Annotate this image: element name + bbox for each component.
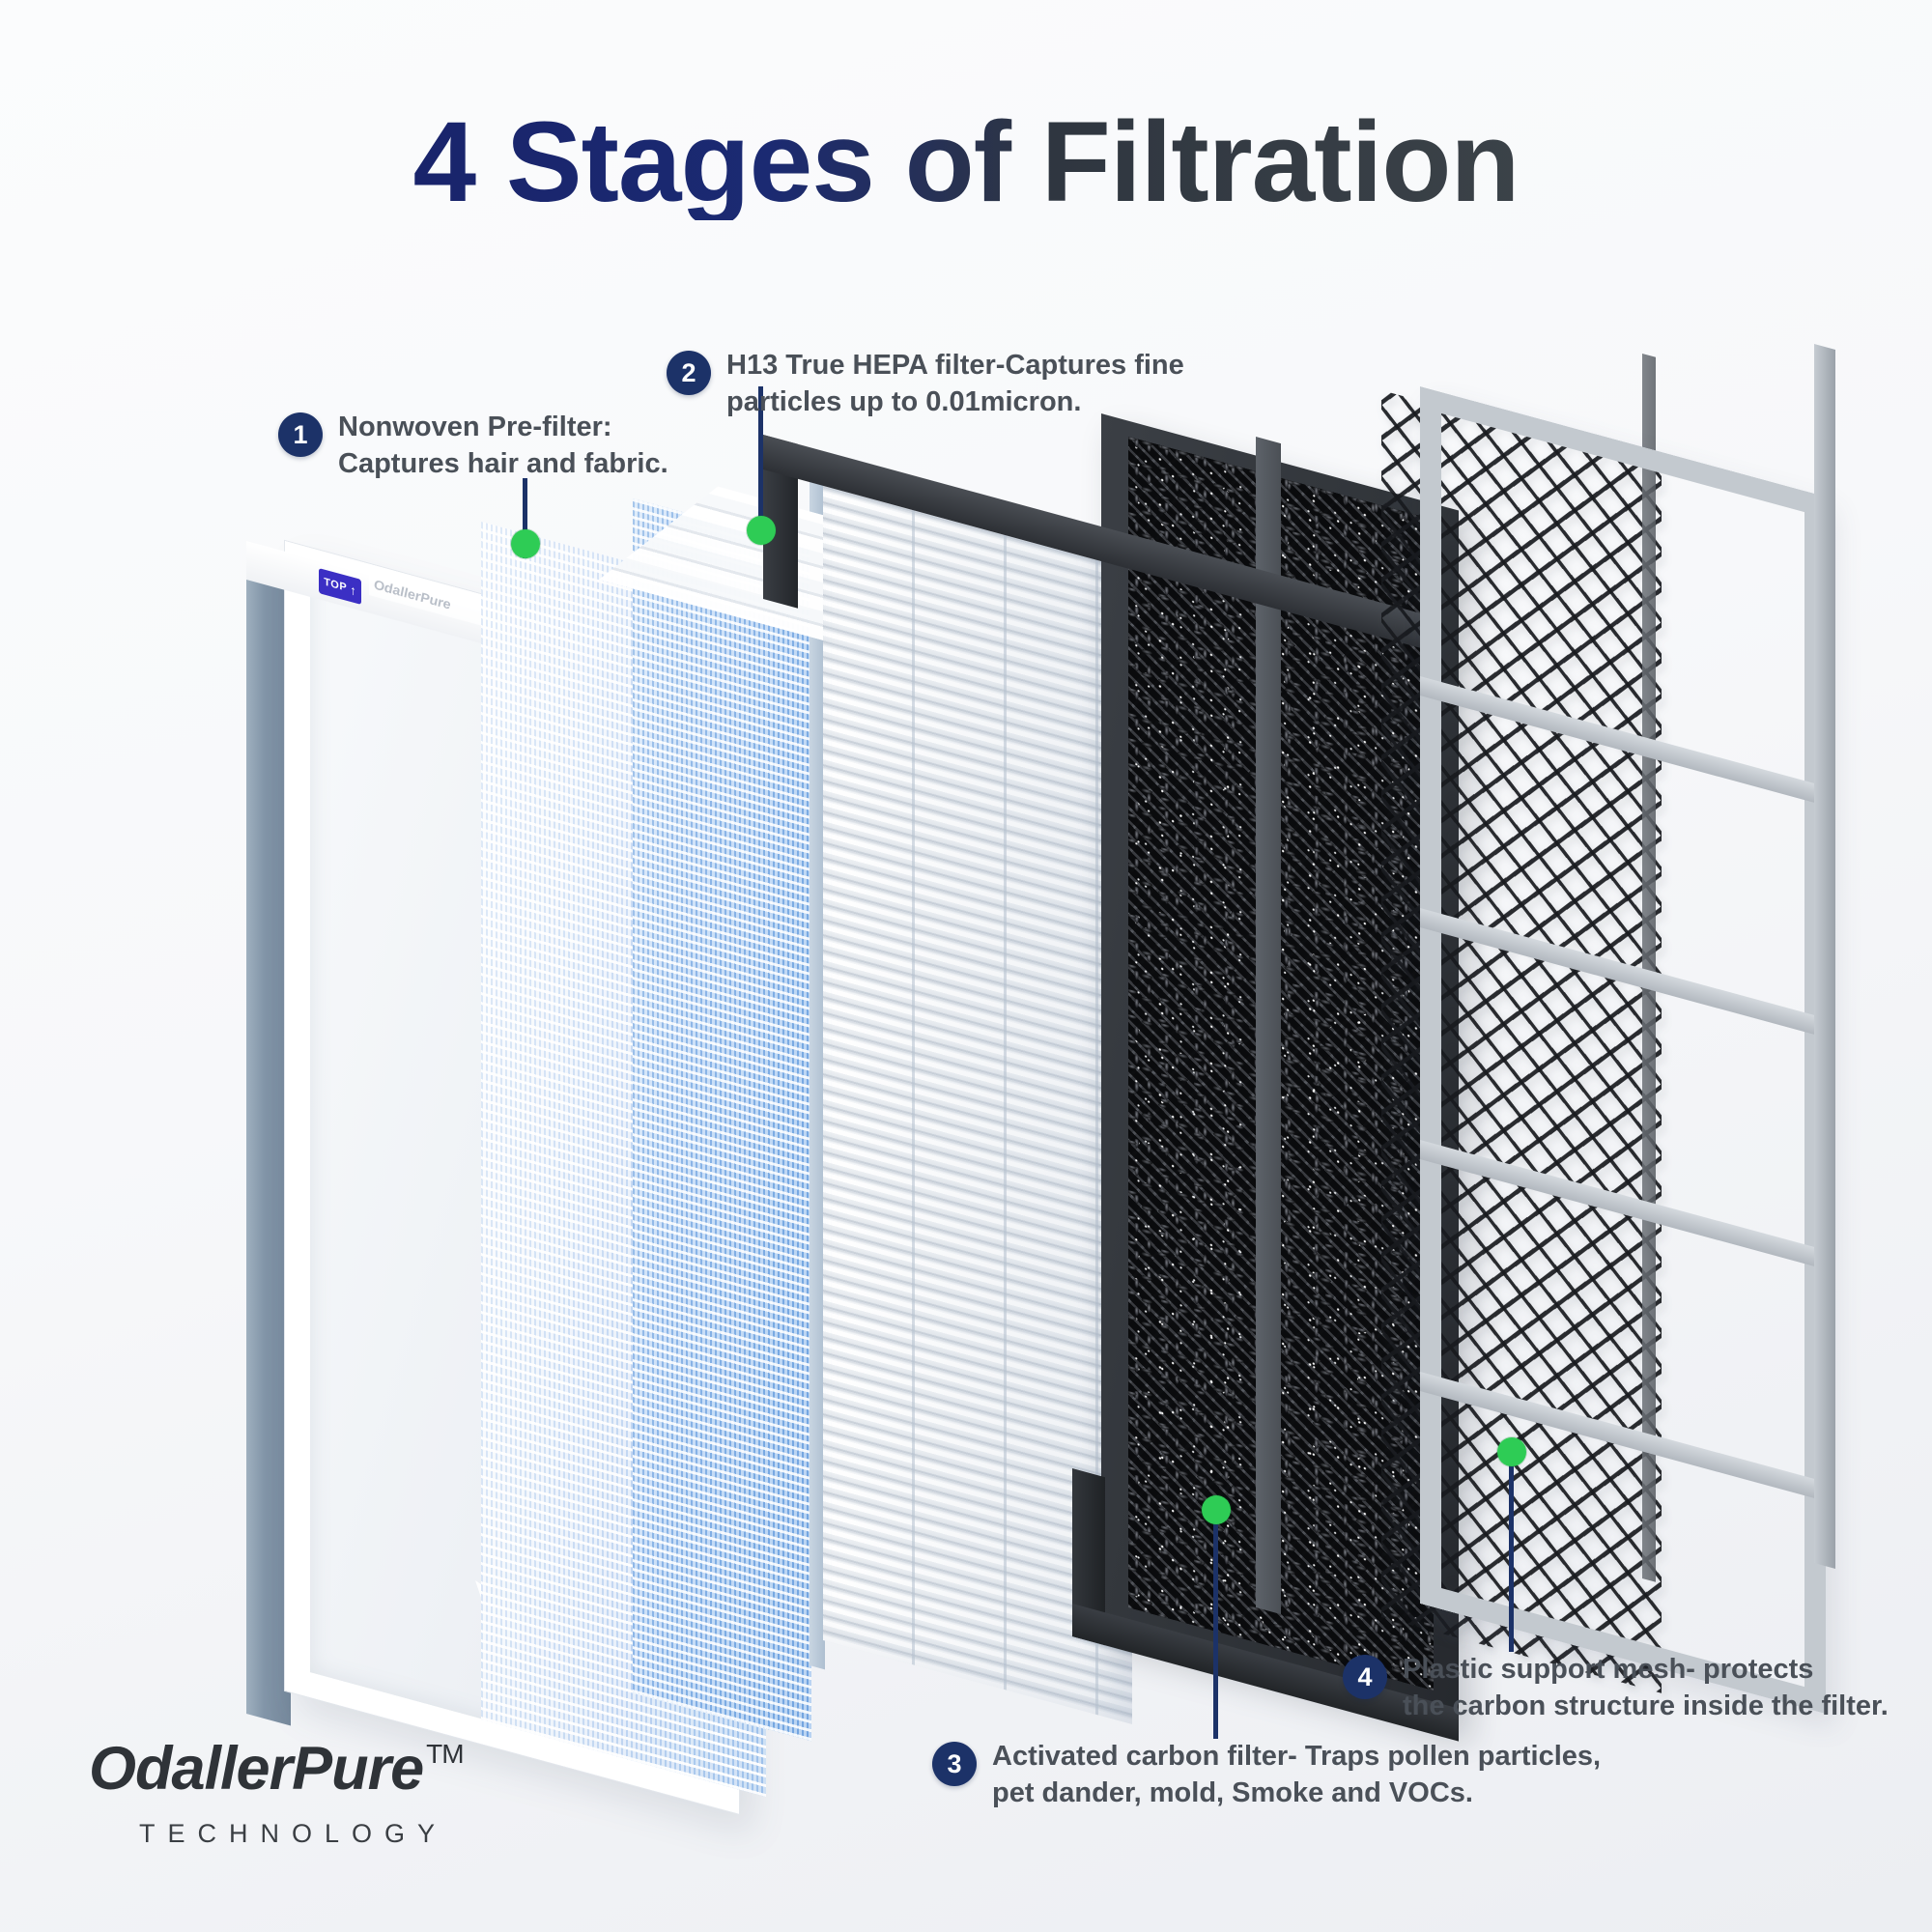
anchor-dot-4	[1497, 1437, 1526, 1466]
leader-line-4	[1509, 1459, 1514, 1652]
top-sticker-label: TOP	[324, 576, 347, 593]
brand-logo: OdallerPure TM TECHNOLOGY	[89, 1739, 464, 1849]
nonwoven-prefilter-media-shaded	[633, 498, 811, 1741]
callout-badge-2: 2	[667, 351, 711, 395]
logo-tagline: TECHNOLOGY	[139, 1819, 464, 1849]
anchor-dot-1	[511, 529, 540, 558]
carbon-center-rib	[1256, 437, 1281, 1614]
up-arrow-icon: ↑	[350, 582, 356, 597]
callout-text-4: Plastic support mesh- protects the carbo…	[1403, 1652, 1889, 1724]
trademark-symbol: TM	[426, 1741, 463, 1768]
callout-4[interactable]: 4 Plastic support mesh- protects the car…	[1343, 1652, 1889, 1724]
callout-badge-1: 1	[278, 412, 323, 457]
callout-text-3: Activated carbon filter- Traps pollen pa…	[992, 1739, 1601, 1811]
logo-wordmark: OdallerPure TM	[89, 1739, 464, 1800]
plastic-support-frame	[1420, 386, 1826, 1714]
callout-2[interactable]: 2 H13 True HEPA filter-Captures fine par…	[667, 348, 1184, 420]
callout-3[interactable]: 3 Activated carbon filter- Traps pollen …	[932, 1739, 1601, 1811]
logo-brand-text: OdallerPure	[89, 1739, 423, 1800]
callout-badge-4: 4	[1343, 1655, 1387, 1699]
callout-text-2: H13 True HEPA filter-Captures fine parti…	[726, 348, 1184, 420]
callout-1[interactable]: 1 Nonwoven Pre-filter: Captures hair and…	[278, 410, 668, 482]
anchor-dot-2	[747, 516, 776, 545]
filter-exploded-diagram: TOP ↑ OdallerPure 1 Nonwoven Pre-filter:…	[0, 0, 1932, 1932]
support-frame-edge	[1814, 344, 1835, 1569]
anchor-dot-3	[1202, 1495, 1231, 1524]
leader-line-3	[1213, 1517, 1218, 1739]
callout-text-1: Nonwoven Pre-filter: Captures hair and f…	[338, 410, 668, 482]
callout-badge-3: 3	[932, 1742, 977, 1786]
